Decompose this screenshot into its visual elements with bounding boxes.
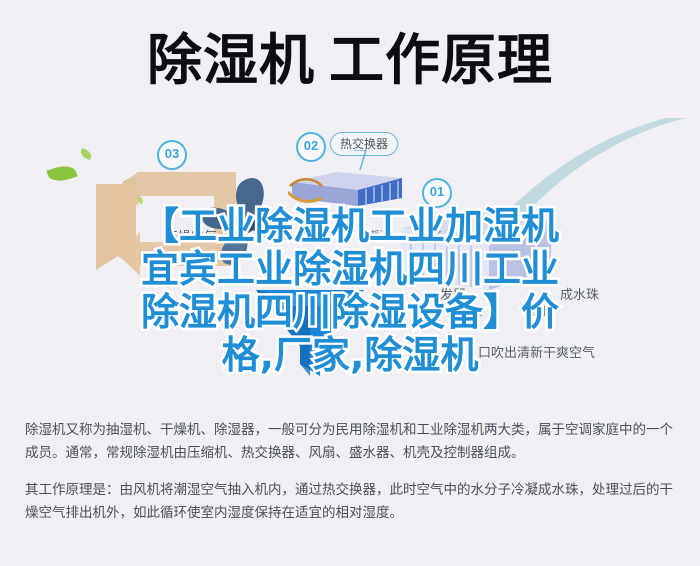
page-title: 除湿机工作原理: [0, 28, 700, 92]
product-info-image: 除湿机工作原理: [0, 0, 700, 566]
watermark-line-2: 宜宾工业除湿机四川工业: [0, 248, 700, 291]
callout-tail-icon: [352, 150, 368, 172]
description-paragraph-2: 其工作原理是：由风机将潮湿空气抽入机内，通过热交换器，此时空气中的水分子冷凝成水…: [25, 478, 680, 524]
diagram-badge-03: 03: [157, 140, 187, 170]
title-band: 除湿机工作原理: [0, 0, 700, 122]
leaf-icon: [46, 162, 77, 185]
watermark-line-1: 【工业除湿机工业加湿机: [0, 205, 700, 248]
diagram-badge-02: 02: [296, 132, 326, 162]
watermark-line-3: 除湿机四川除湿设备】价: [0, 291, 700, 334]
watermark-overlay: 【工业除湿机工业加湿机 宜宾工业除湿机四川工业 除湿机四川除湿设备】价 格,厂家…: [0, 205, 700, 377]
description-paragraph-1: 除湿机又称为抽湿机、干燥机、除湿器，一般可分为民用除湿机和工业除湿机两大类，属于…: [25, 418, 680, 464]
title-part-1: 除湿机: [147, 29, 315, 91]
watermark-line-4: 格,厂家,除湿机: [0, 334, 700, 377]
title-part-2: 工作原理: [329, 29, 553, 91]
leaf-icon: [79, 148, 93, 160]
description-text: 除湿机又称为抽湿机、干燥机、除湿器，一般可分为民用除湿机和工业除湿机两大类，属于…: [25, 418, 680, 524]
heat-exchanger-icon: [288, 168, 406, 208]
